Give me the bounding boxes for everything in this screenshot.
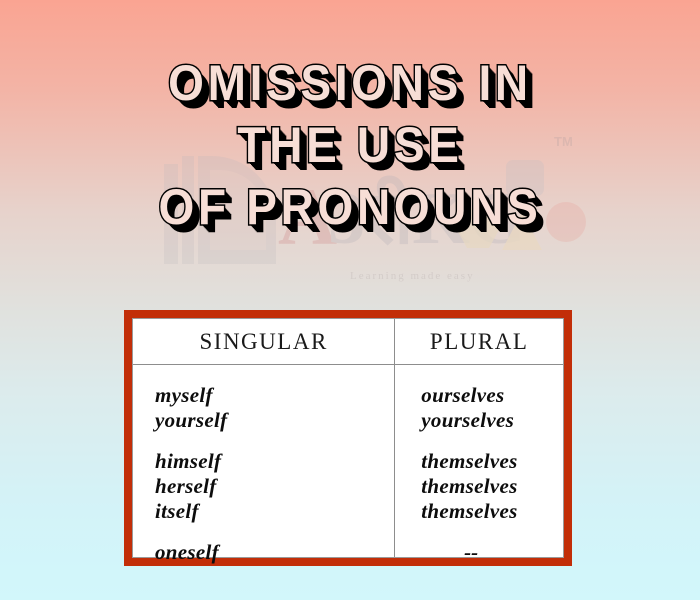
row-group: --	[421, 540, 563, 565]
list-item: ourselves	[421, 383, 563, 408]
table-body: myself yourself himself herself itself o…	[133, 365, 563, 557]
title-line-1: OMISSIONS IN	[28, 52, 672, 114]
list-item: itself	[155, 499, 394, 524]
table-header-row: SINGULAR PLURAL	[133, 319, 563, 365]
row-group: oneself	[155, 540, 394, 565]
list-item: themselves	[421, 474, 563, 499]
pronoun-table: SINGULAR PLURAL myself yourself himself …	[132, 318, 564, 558]
row-group: ourselves yourselves	[421, 383, 563, 433]
plural-column: ourselves yourselves themselves themselv…	[395, 365, 563, 557]
list-item: themselves	[421, 499, 563, 524]
list-item: --	[421, 540, 563, 565]
list-item: oneself	[155, 540, 394, 565]
row-group: themselves themselves themselves	[421, 449, 563, 524]
title-line-3: OF PRONOUNS	[28, 176, 672, 238]
list-item: themselves	[421, 449, 563, 474]
list-item: yourselves	[421, 408, 563, 433]
page-title: OMISSIONS IN THE USE OF PRONOUNS	[0, 52, 700, 238]
list-item: myself	[155, 383, 394, 408]
title-line-2: THE USE	[28, 114, 672, 176]
singular-column: myself yourself himself herself itself o…	[133, 365, 395, 557]
pronoun-table-card: SINGULAR PLURAL myself yourself himself …	[124, 310, 572, 566]
column-header-plural: PLURAL	[395, 319, 563, 364]
list-item: herself	[155, 474, 394, 499]
list-item: himself	[155, 449, 394, 474]
row-group: myself yourself	[155, 383, 394, 433]
list-item: yourself	[155, 408, 394, 433]
watermark-tagline: Learning made easy	[350, 270, 475, 282]
row-group: himself herself itself	[155, 449, 394, 524]
column-header-singular: SINGULAR	[133, 319, 395, 364]
